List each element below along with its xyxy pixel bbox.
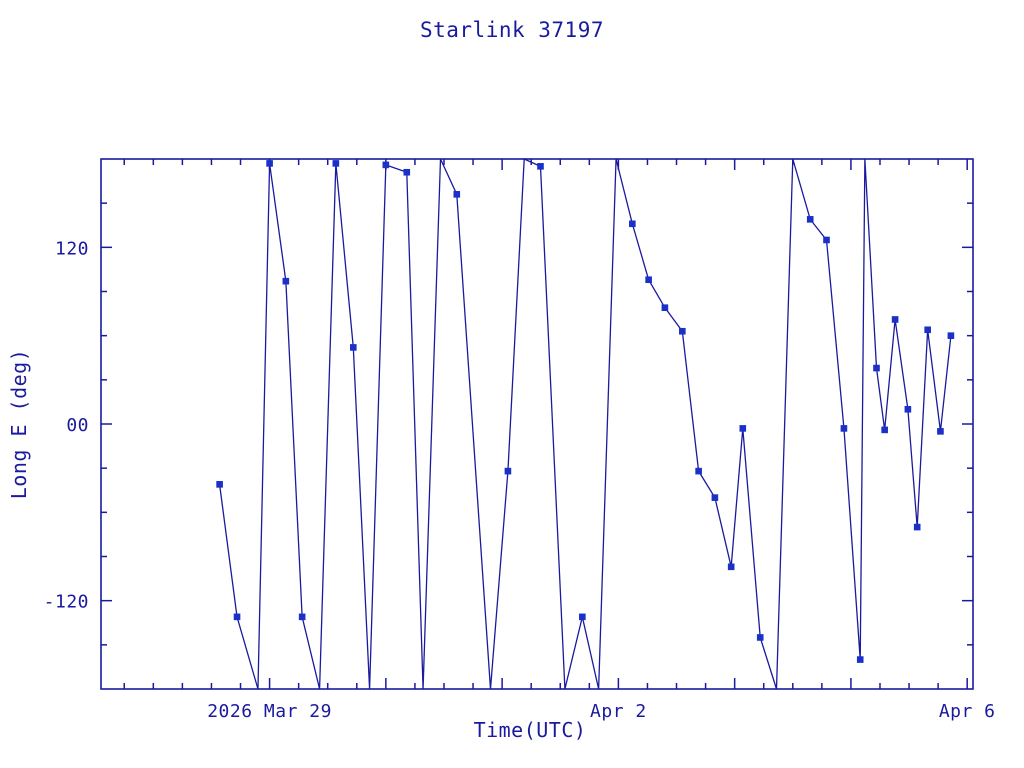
x-tick-label: Apr 6 bbox=[939, 701, 996, 722]
data-point bbox=[807, 216, 813, 222]
data-point bbox=[874, 365, 880, 371]
data-point bbox=[404, 169, 410, 175]
data-point bbox=[267, 160, 273, 166]
data-point bbox=[905, 406, 911, 412]
data-point bbox=[857, 657, 863, 663]
x-axis-tick-labels: 2026 Mar 29Apr 2Apr 6 bbox=[207, 701, 995, 722]
data-point bbox=[454, 191, 460, 197]
data-point bbox=[892, 316, 898, 322]
data-point bbox=[925, 327, 931, 333]
chart-canvas: Starlink 37197 -12000120 2026 Mar 29Apr … bbox=[0, 0, 1024, 768]
x-tick-label: Apr 2 bbox=[590, 701, 647, 722]
data-point bbox=[283, 278, 289, 284]
data-point bbox=[299, 614, 305, 620]
y-tick-label: 120 bbox=[55, 238, 89, 259]
x-axis-title: Time(UTC) bbox=[474, 718, 587, 742]
data-point bbox=[350, 344, 356, 350]
y-axis-title: Long E (deg) bbox=[7, 349, 31, 500]
data-point bbox=[882, 427, 888, 433]
data-point bbox=[662, 305, 668, 311]
y-tick-label: 00 bbox=[66, 415, 89, 436]
axis-ticks bbox=[101, 159, 973, 689]
data-point bbox=[679, 328, 685, 334]
data-point bbox=[712, 495, 718, 501]
data-point bbox=[333, 160, 339, 166]
data-point bbox=[696, 468, 702, 474]
data-series-long-e bbox=[217, 159, 954, 689]
data-point bbox=[234, 614, 240, 620]
data-point bbox=[579, 614, 585, 620]
data-point bbox=[629, 221, 635, 227]
x-tick-label: 2026 Mar 29 bbox=[207, 701, 332, 722]
data-line bbox=[220, 159, 951, 689]
data-point bbox=[824, 237, 830, 243]
data-markers bbox=[217, 160, 954, 662]
data-point bbox=[937, 428, 943, 434]
data-point bbox=[757, 634, 763, 640]
y-tick-label: -120 bbox=[44, 592, 89, 613]
plot-frame bbox=[101, 159, 973, 689]
starlink-longitude-plot: Starlink 37197 -12000120 2026 Mar 29Apr … bbox=[0, 0, 1024, 768]
data-point bbox=[217, 481, 223, 487]
page-title: Starlink 37197 bbox=[420, 18, 604, 42]
data-point bbox=[740, 425, 746, 431]
data-point bbox=[505, 468, 511, 474]
data-point bbox=[841, 425, 847, 431]
data-point bbox=[948, 333, 954, 339]
data-point bbox=[728, 564, 734, 570]
y-axis-tick-labels: -12000120 bbox=[44, 238, 89, 612]
data-point bbox=[914, 524, 920, 530]
data-point bbox=[646, 277, 652, 283]
data-point bbox=[537, 163, 543, 169]
data-point bbox=[383, 162, 389, 168]
